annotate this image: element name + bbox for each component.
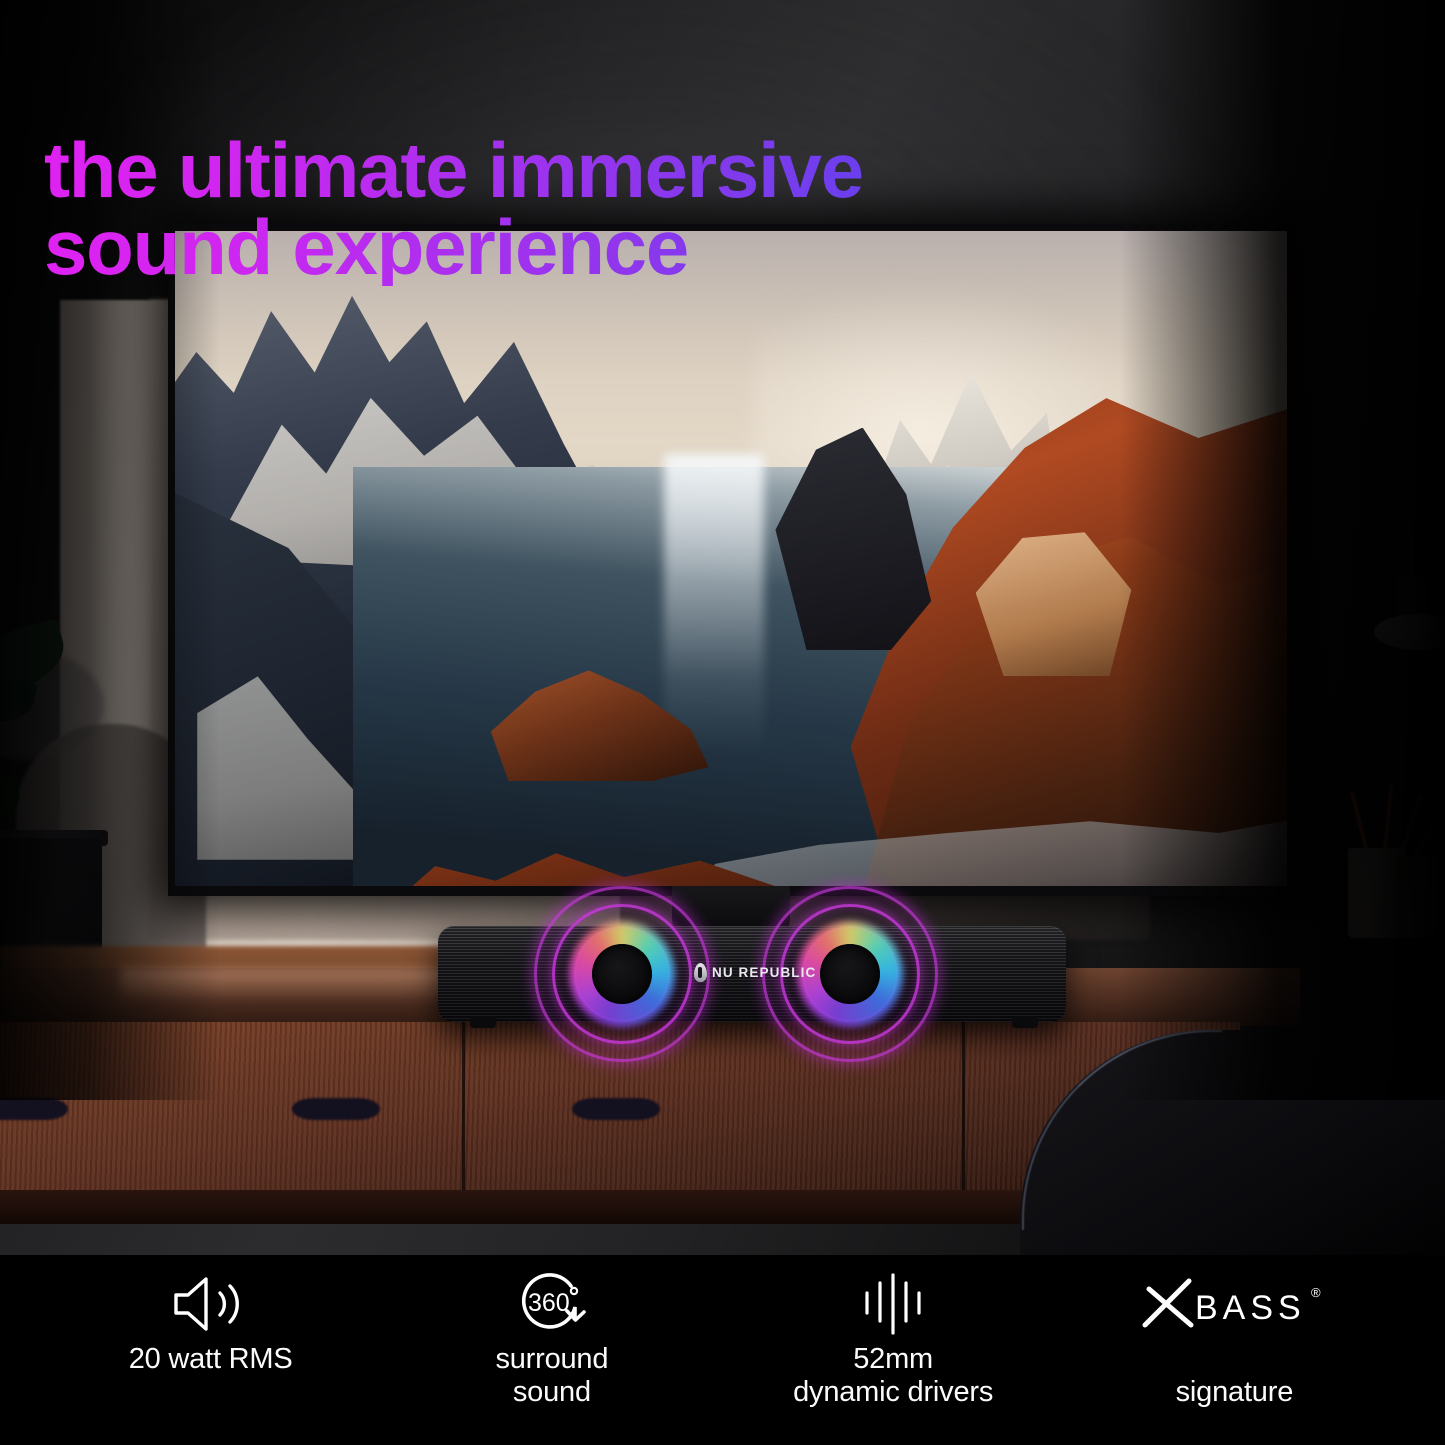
- driver-cone: [592, 944, 652, 1004]
- svg-text:360: 360: [528, 1289, 570, 1317]
- soundbar-foot: [1012, 1016, 1038, 1028]
- drawer-handle[interactable]: [572, 1098, 660, 1120]
- drawer-divider: [462, 1022, 465, 1198]
- 360-degree-rotation-icon: 360: [514, 1271, 590, 1337]
- driver-cone: [820, 944, 880, 1004]
- feature-label: signature X-BASS® sound: [1133, 1343, 1336, 1445]
- drawer-divider: [962, 1022, 965, 1198]
- feature-watt-rms: 20 watt RMS: [40, 1271, 381, 1376]
- xbass-label-line1: signature: [1176, 1376, 1294, 1408]
- feature-label: 20 watt RMS: [129, 1343, 293, 1376]
- drawer-handle[interactable]: [0, 1098, 68, 1120]
- page-title: the ultimate immersive sound experience: [44, 132, 1244, 286]
- svg-text:®: ®: [1311, 1285, 1321, 1300]
- feature-surround-sound: 360 surround sound: [381, 1271, 722, 1409]
- feature-label: 52mm dynamic drivers: [793, 1343, 993, 1409]
- equalizer-bars-icon: [853, 1271, 933, 1337]
- xbass-logo-icon: BASS ®: [1139, 1271, 1329, 1337]
- feature-strip: 20 watt RMS 360 surround sound: [0, 1255, 1445, 1445]
- water-reflection: [664, 454, 764, 755]
- brand-logo: NU REPUBLIC: [694, 963, 816, 982]
- banner-root: NU REPUBLIC the ultimate immersive sound…: [0, 0, 1445, 1445]
- svg-text:BASS: BASS: [1195, 1289, 1306, 1327]
- feature-xbass: BASS ® signature X-BASS® sound: [1064, 1271, 1405, 1445]
- feature-dynamic-drivers: 52mm dynamic drivers: [723, 1271, 1064, 1409]
- feature-label: surround sound: [495, 1343, 608, 1409]
- drawer-handle[interactable]: [292, 1098, 380, 1120]
- flame-emblem-icon: [694, 963, 707, 982]
- speaker-volume-icon: [168, 1271, 254, 1337]
- soundbar-foot: [470, 1016, 496, 1028]
- brand-name: NU REPUBLIC: [712, 965, 816, 980]
